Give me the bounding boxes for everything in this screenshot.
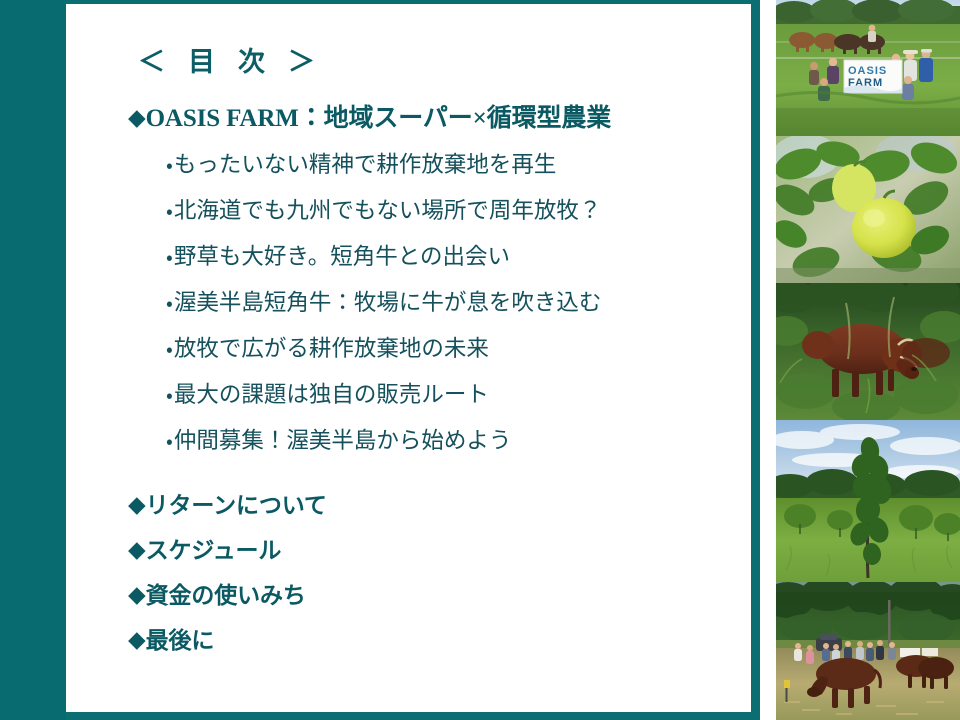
section-heading-label: 資金の使いみち [146,583,306,608]
dot-bullet-icon: ・ [166,385,174,407]
list-item: ・北海道でも九州でもない場所で周年放牧？ [166,200,601,246]
dot-bullet-icon: ・ [166,431,174,453]
photo-5-artwork [776,582,960,720]
slide-root: ＜ 目 次 ＞ ◆OASIS FARM：地域スーパー×循環型農業 ・もったいない… [0,0,960,720]
section-heading-oasis-farm: ◆OASIS FARM：地域スーパー×循環型農業 [128,98,611,134]
list-item-label: 仲間募集！渥美半島から始めよう [174,428,512,453]
list-item: ・野草も大好き。短角牛との出会い [166,246,601,292]
dot-bullet-icon: ・ [166,155,174,177]
section-heading-label: リターンについて [146,493,327,518]
photo-4-artwork [776,420,960,582]
section-heading-funds: ◆資金の使いみち [128,576,306,610]
photo-young-tree-in-pasture [776,420,960,582]
dot-bullet-icon: ・ [166,293,174,315]
list-item: ・最大の課題は独自の販売ルート [166,384,601,430]
left-accent-band [0,0,66,720]
photo-lemon-on-tree [776,136,960,283]
subsection-list: ・もったいない精神で耕作放棄地を再生 ・北海道でも九州でもない場所で周年放牧？ … [166,154,601,476]
bottom-accent-rule [66,712,760,720]
content-area: ＜ 目 次 ＞ ◆OASIS FARM：地域スーパー×循環型農業 ・もったいない… [66,4,751,712]
diamond-bullet-icon: ◆ [128,537,146,562]
diamond-bullet-icon: ◆ [128,582,146,607]
dot-bullet-icon: ・ [166,201,174,223]
list-item: ・仲間募集！渥美半島から始めよう [166,430,601,476]
list-item: ・渥美半島短角牛：牧場に牛が息を吹き込む [166,292,601,338]
list-item: ・もったいない精神で耕作放棄地を再生 [166,154,601,200]
diamond-bullet-icon: ◆ [128,492,146,517]
photo-shorthorn-cow-in-brush [776,283,960,420]
svg-text:OASIS: OASIS [848,65,887,77]
diamond-bullet-icon: ◆ [128,627,146,652]
section-heading-label: スケジュール [146,538,282,563]
photo-3-artwork [776,283,960,420]
photo-rail: OASIS FARM [776,0,960,720]
section-heading-label: 最後に [146,628,215,653]
page-title: ＜ 目 次 ＞ [138,40,323,79]
section-heading-label: OASIS FARM：地域スーパー×循環型農業 [146,105,612,132]
list-item-label: もったいない精神で耕作放棄地を再生 [174,152,557,177]
diamond-bullet-icon: ◆ [128,105,146,130]
section-heading-return: ◆リターンについて [128,486,327,520]
list-item-label: 北海道でも九州でもない場所で周年放牧？ [174,198,602,223]
list-item: ・放牧で広がる耕作放棄地の未来 [166,338,601,384]
list-item-label: 最大の課題は独自の販売ルート [174,382,489,407]
list-item-label: 渥美半島短角牛：牧場に牛が息を吹き込む [174,290,602,315]
dot-bullet-icon: ・ [166,247,174,269]
photo-group-with-oasis-farm-banner: OASIS FARM [776,0,960,136]
list-item-label: 放牧で広がる耕作放棄地の未来 [174,336,489,361]
photo-2-artwork [776,136,960,283]
right-accent-rule [751,0,760,720]
photo-visitors-watching-cattle [776,582,960,720]
section-heading-closing: ◆最後に [128,621,214,655]
section-heading-schedule: ◆スケジュール [128,531,281,565]
list-item-label: 野草も大好き。短角牛との出会い [174,244,510,269]
photo-1-artwork: OASIS FARM [776,0,960,136]
dot-bullet-icon: ・ [166,339,174,361]
